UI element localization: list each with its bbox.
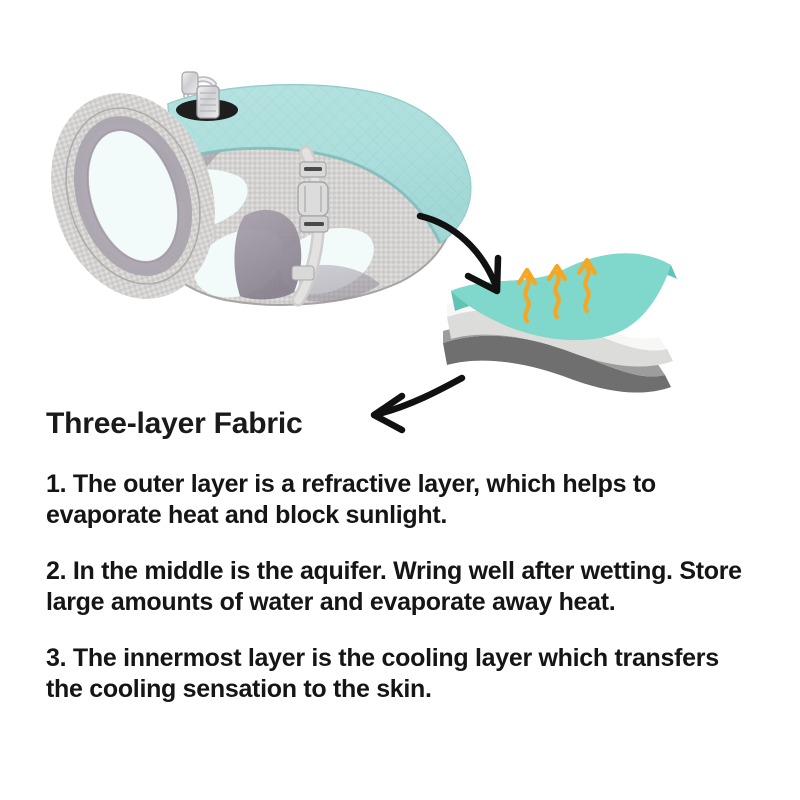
description-paragraph-1: 1. The outer layer is a refractive layer…	[46, 469, 762, 531]
description-paragraph-2: 2. In the middle is the aquifer. Wring w…	[46, 556, 762, 618]
infographic-canvas: Three-layer Fabric 1. The outer layer is…	[0, 0, 800, 800]
strap-keeper-icon	[292, 266, 314, 280]
page-title: Three-layer Fabric	[46, 405, 762, 443]
description-block: Three-layer Fabric 1. The outer layer is…	[46, 405, 762, 705]
arrow-vest-to-fabric	[408, 198, 538, 313]
side-release-buckle-icon	[298, 182, 328, 232]
neck-ladder-lock-icon	[197, 86, 219, 118]
strap-adjuster-icon	[300, 162, 326, 177]
description-paragraph-3: 3. The innermost layer is the cooling la…	[46, 643, 762, 705]
